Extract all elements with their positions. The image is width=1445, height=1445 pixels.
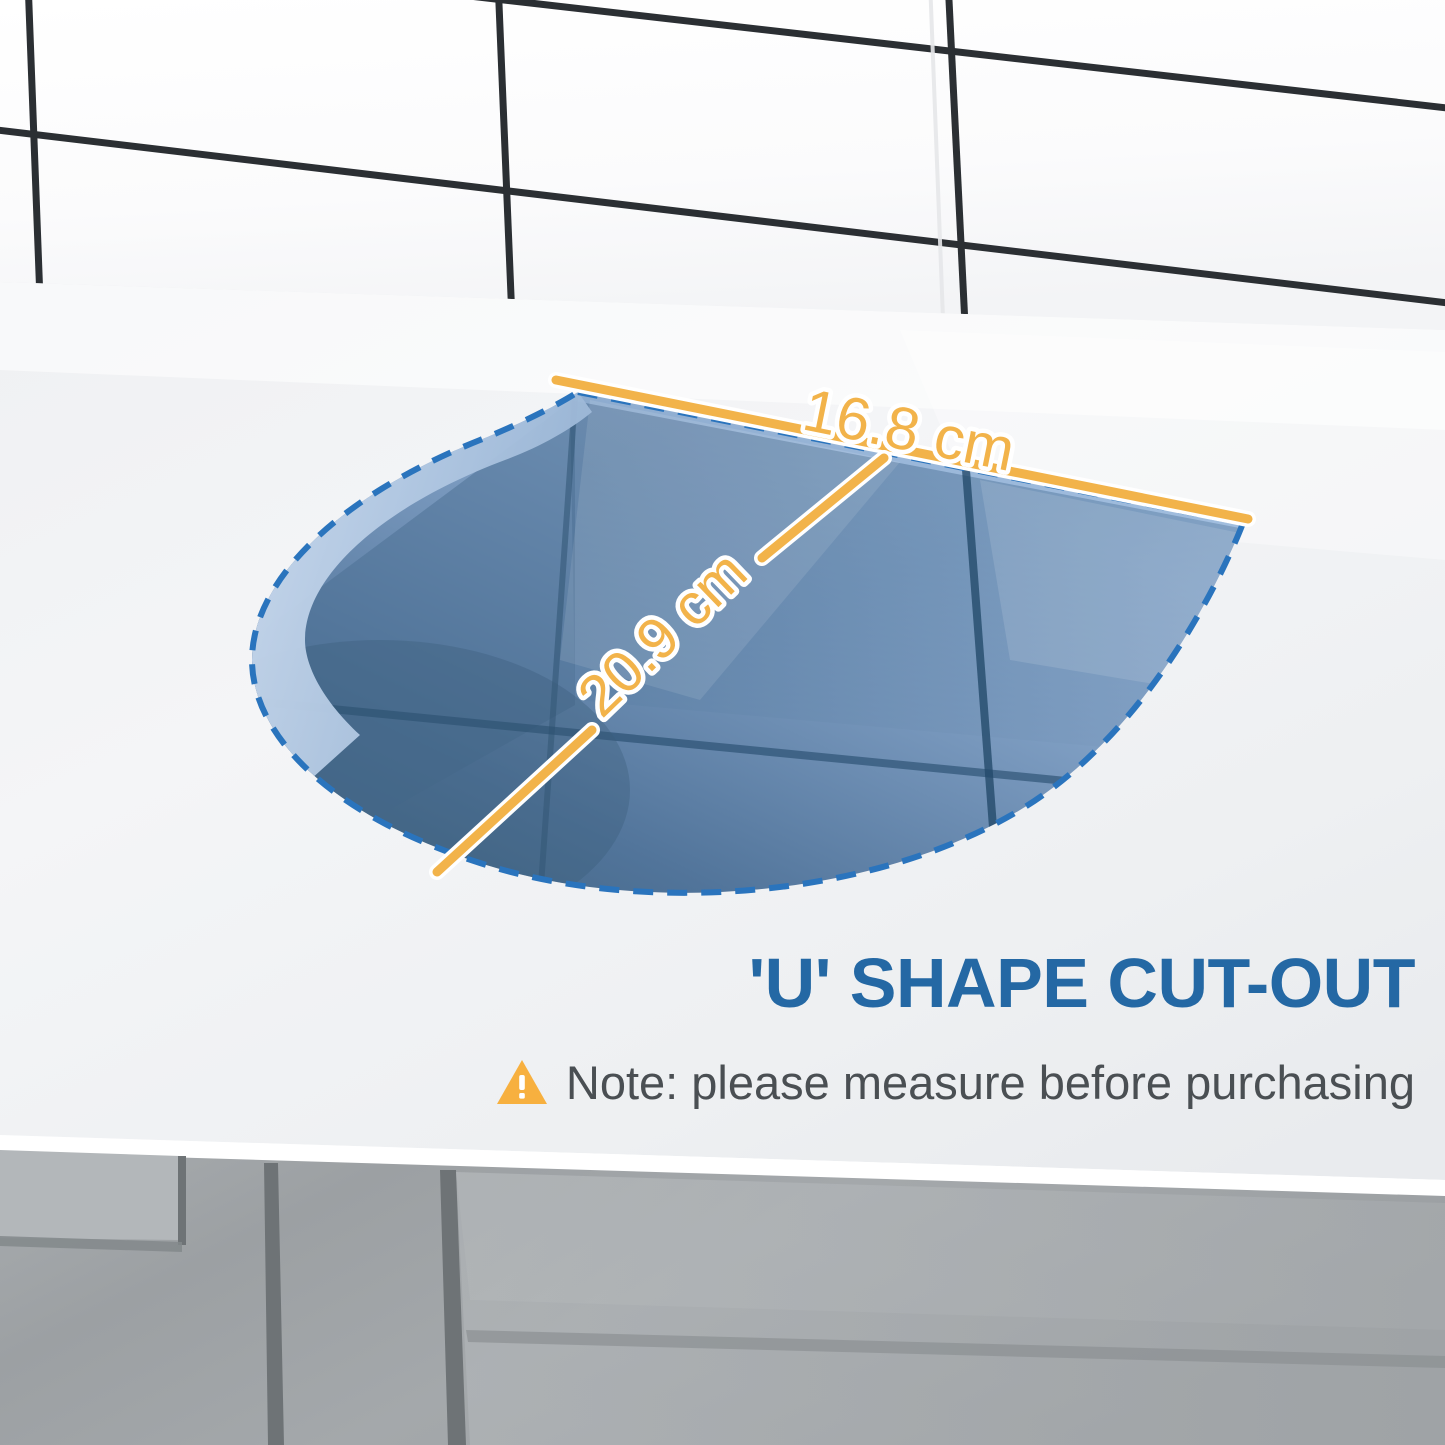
cabinet-gap	[178, 1156, 186, 1245]
cabinet-doors	[0, 1150, 1445, 1445]
page-title: 'U' SHAPE CUT-OUT	[0, 948, 1415, 1018]
note-row: Note: please measure before purchasing	[496, 1058, 1415, 1106]
kitchen-scene-illustration: 16.8 cm 20.9 cm	[0, 0, 1445, 1445]
warning-triangle-icon	[496, 1058, 548, 1106]
cabinet-panel-left	[0, 1150, 180, 1240]
note-text: Note: please measure before purchasing	[566, 1059, 1415, 1106]
infographic-canvas: 16.8 cm 20.9 cm 'U' SHAPE CUT-OUT Note: …	[0, 0, 1445, 1445]
